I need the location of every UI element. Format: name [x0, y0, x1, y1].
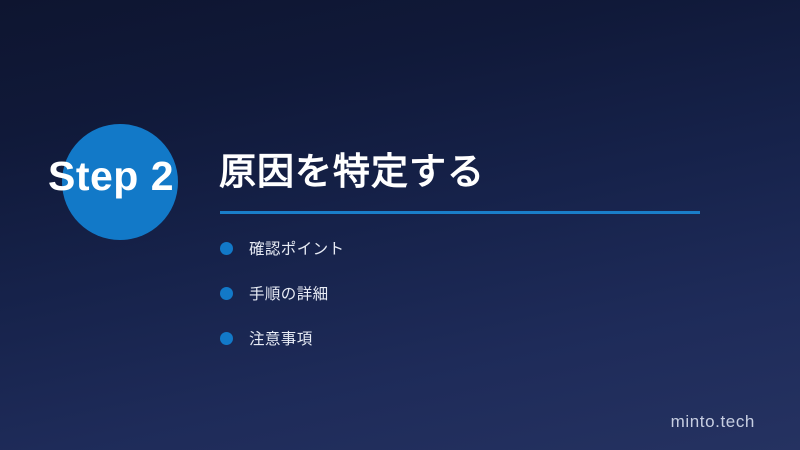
bullet-dot-icon	[220, 242, 233, 255]
bullet-dot-icon	[220, 332, 233, 345]
presentation-slide: Step 2 原因を特定する 確認ポイント 手順の詳細 注意事項 minto.t…	[0, 0, 800, 450]
step-label: Step 2	[48, 152, 174, 200]
bullet-label: 手順の詳細	[249, 282, 329, 304]
list-item: 確認ポイント	[220, 239, 640, 257]
bullet-label: 確認ポイント	[249, 237, 344, 259]
footer-brand: minto.tech	[671, 412, 755, 432]
slide-title: 原因を特定する	[219, 148, 485, 196]
bullet-dot-icon	[220, 287, 233, 300]
bullet-list: 確認ポイント 手順の詳細 注意事項	[220, 239, 640, 347]
list-item: 注意事項	[220, 329, 640, 347]
list-item: 手順の詳細	[220, 284, 640, 302]
bullet-label: 注意事項	[249, 327, 313, 349]
title-underline-rule	[220, 211, 700, 214]
